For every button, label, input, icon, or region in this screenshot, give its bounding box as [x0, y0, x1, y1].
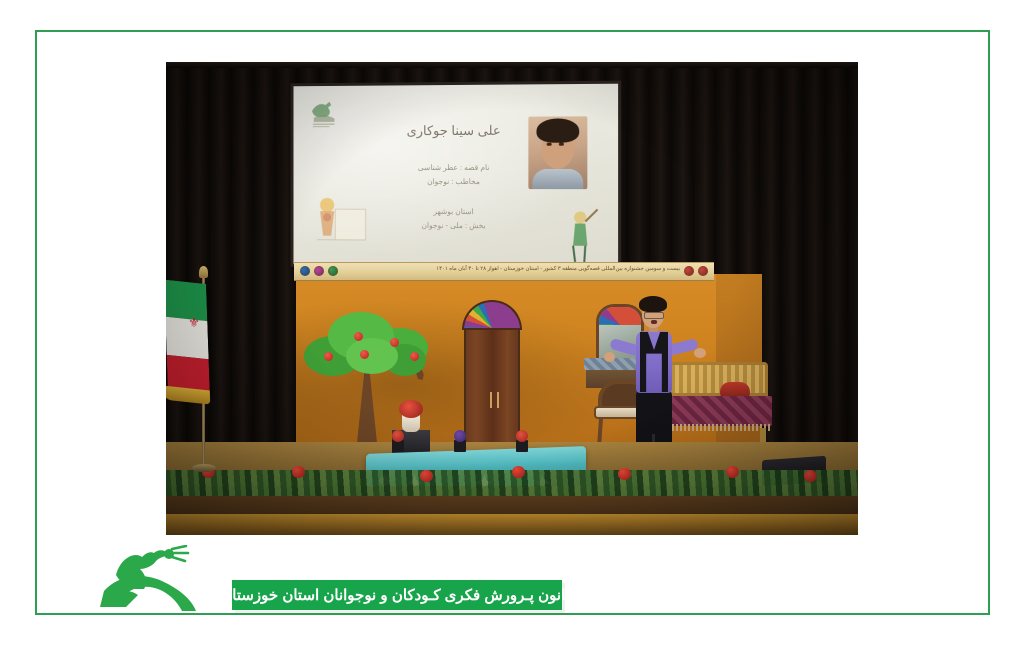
performer-mouth [651, 320, 657, 324]
page-root: علی سینا جوکاری نام قصه : عطر شناسی مخاط… [0, 0, 1024, 648]
tree-apple [410, 352, 419, 361]
slide-prince-illustration [557, 201, 604, 264]
tree-apple [360, 350, 369, 359]
flag-green-band [166, 280, 207, 322]
tree-apple [354, 332, 363, 341]
slide-sketch-illustration [311, 195, 372, 253]
festival-banner: بیست و سومین جشنواره بین‌المللی قصه‌گویی… [294, 262, 714, 281]
door-panels [464, 328, 520, 446]
garland-apple [726, 466, 739, 478]
iran-flag: ⚜ [174, 270, 234, 500]
garland-apple [618, 468, 631, 480]
performer-glasses [644, 312, 664, 319]
flag-stand-base [192, 464, 216, 472]
stained-glass-door-prop [462, 300, 522, 446]
banner-ornament [314, 266, 324, 276]
stage-front-lighting [166, 514, 858, 535]
curtain-top-edge [166, 62, 858, 68]
slide-portrait-photo [528, 116, 587, 189]
kanoon-bird-logo-icon [96, 545, 214, 613]
door-handle [490, 392, 492, 408]
banner-ornament [300, 266, 310, 276]
projection-screen: علی سینا جوکاری نام قصه : عطر شناسی مخاط… [293, 84, 618, 267]
banner-ornament [328, 266, 338, 276]
performer-left-hand [604, 352, 615, 362]
garland-apple [292, 466, 305, 478]
banner-ornament [698, 266, 708, 276]
door-handle [497, 392, 499, 408]
footer-caption-bar: کانون پـرورش فکری کـودکان و نوجوانان است… [232, 580, 562, 610]
stage-performance-photo: علی سینا جوکاری نام قصه : عطر شناسی مخاط… [166, 62, 858, 535]
flag-cloth [166, 280, 210, 397]
footer-caption-text: کانون پـرورش فکری کـودکان و نوجوانان است… [221, 586, 573, 604]
flag-finial [199, 266, 208, 278]
projection-screen-content: علی سینا جوکاری نام قصه : عطر شناسی مخاط… [293, 84, 618, 267]
garland-apple [420, 470, 433, 482]
flower-pot [454, 440, 466, 452]
flower-vase [402, 414, 420, 432]
performer-right-hand [694, 348, 706, 358]
tree-apple [390, 338, 399, 347]
festival-banner-text: بیست و سومین جشنواره بین‌المللی قصه‌گویی… [436, 266, 680, 272]
garland-apple [512, 466, 525, 478]
tree-apple [324, 352, 333, 361]
flower-pot [516, 440, 528, 452]
flower-pot [392, 440, 404, 452]
banner-ornament [684, 266, 694, 276]
performer-hair [639, 296, 667, 312]
garland-apple [804, 470, 817, 482]
stained-glass-arch [462, 300, 522, 330]
flag-emblem-icon: ⚜ [186, 316, 202, 330]
